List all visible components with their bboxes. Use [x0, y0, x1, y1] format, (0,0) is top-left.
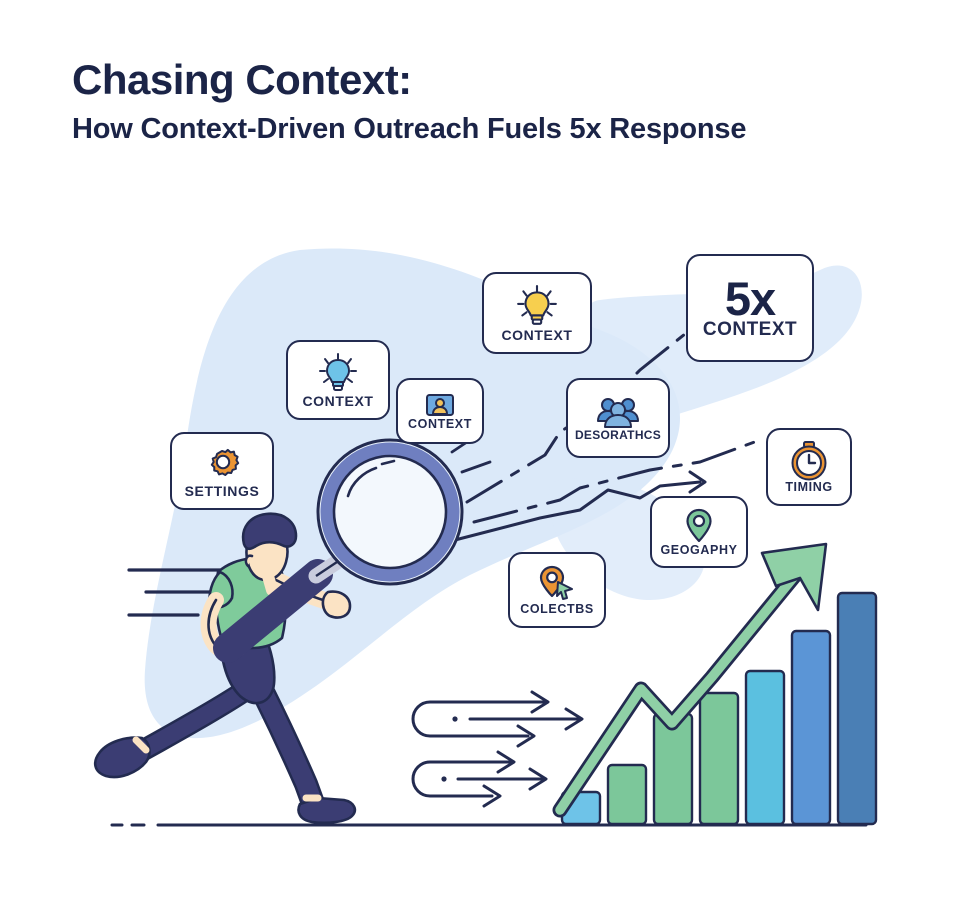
- bar-4: [700, 693, 738, 824]
- people-group-icon: [596, 395, 640, 429]
- bar-chart: [562, 593, 876, 824]
- bar-6: [792, 631, 830, 824]
- bubble-context-yellow[interactable]: CONTEXT: [482, 272, 592, 354]
- map-pin-icon: [684, 508, 714, 544]
- lightbulb-icon: [318, 352, 358, 394]
- bubble-five-x[interactable]: 5x CONTEXT: [686, 254, 814, 362]
- bubble-geography[interactable]: GEOGAPHY: [650, 496, 748, 568]
- stopwatch-icon: [790, 441, 828, 481]
- bubble-label: GEOGAPHY: [660, 544, 737, 557]
- bubble-context-small[interactable]: CONTEXT: [396, 378, 484, 444]
- bubble-timing[interactable]: TIMING: [766, 428, 852, 506]
- infographic-poster: Chasing Context: How Context-Driven Outr…: [0, 0, 960, 920]
- bubble-label: SETTINGS: [185, 484, 260, 498]
- bubble-context-blue[interactable]: CONTEXT: [286, 340, 390, 420]
- bar-7: [838, 593, 876, 824]
- bubble-label: CONTEXT: [501, 328, 572, 342]
- bubble-label: COLECTBS: [520, 603, 594, 616]
- bubble-label: CONTEXT: [408, 418, 472, 431]
- fivex-value: 5x: [725, 277, 775, 320]
- bubble-label: TIMING: [785, 481, 832, 494]
- map-pin-cursor-icon: [538, 565, 576, 603]
- bar-5: [746, 671, 784, 824]
- bubble-settings[interactable]: SETTINGS: [170, 432, 274, 510]
- bubble-label: DESORATHCS: [575, 429, 661, 441]
- person-card-icon: [425, 392, 455, 418]
- swoosh-arrows: [413, 692, 582, 806]
- bar-3: [654, 714, 692, 824]
- bubble-demographics[interactable]: DESORATHCS: [566, 378, 670, 458]
- bar-2: [608, 765, 646, 824]
- bubble-label: CONTEXT: [302, 394, 373, 408]
- gear-icon: [202, 444, 242, 484]
- bubble-label: CONTEXT: [703, 320, 797, 339]
- bubble-collects[interactable]: COLECTBS: [508, 552, 606, 628]
- lightbulb-icon: [516, 284, 558, 328]
